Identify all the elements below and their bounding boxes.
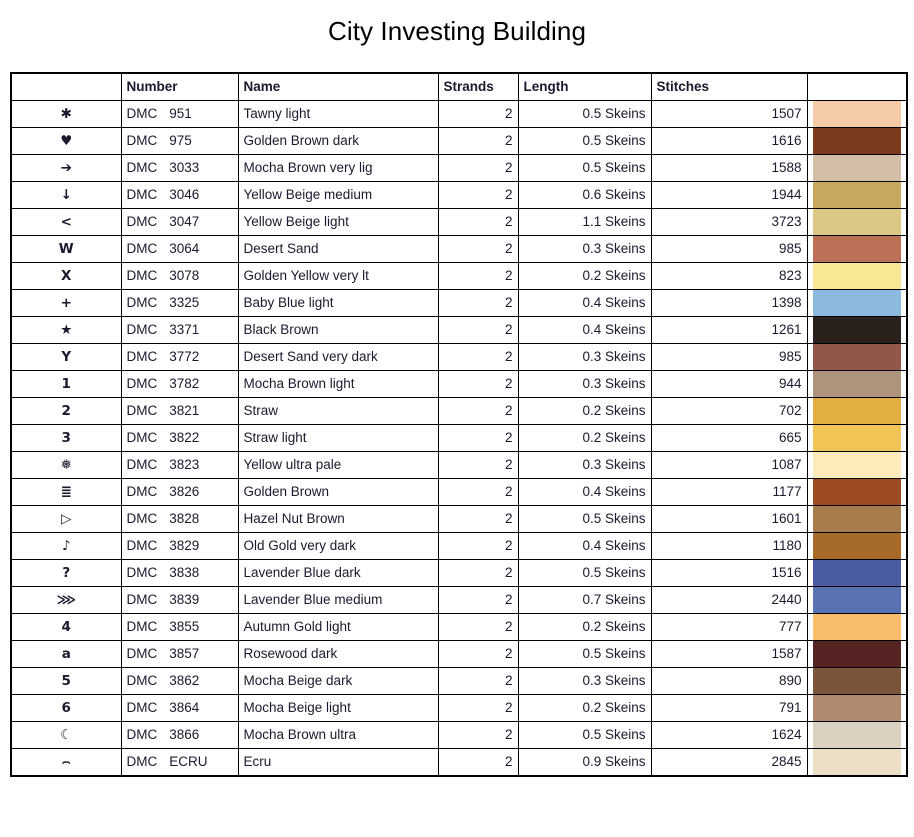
page-title: City Investing Building (0, 0, 914, 47)
table-row[interactable]: aDMC3857Rosewood dark20.5 Skeins1587 (11, 641, 907, 668)
color-swatch (813, 128, 902, 154)
cell-color-name: Golden Yellow very lt (238, 263, 438, 290)
cell-color-swatch (807, 344, 907, 371)
floss-code: 3828 (169, 506, 215, 532)
floss-code: 3829 (169, 533, 215, 559)
color-swatch (813, 533, 902, 559)
cell-length: 0.3 Skeins (518, 668, 651, 695)
floss-brand: DMC (127, 695, 158, 721)
cell-length: 0.2 Skeins (518, 398, 651, 425)
cell-stitches: 1587 (651, 641, 807, 668)
column-header-symbol (11, 73, 121, 101)
heart-symbol: ♥ (11, 128, 121, 155)
cell-length: 0.7 Skeins (518, 587, 651, 614)
cell-stitches: 1944 (651, 182, 807, 209)
table-row[interactable]: 5DMC3862Mocha Beige dark20.3 Skeins890 (11, 668, 907, 695)
cell-length: 0.5 Skeins (518, 641, 651, 668)
cell-color-name: Mocha Brown light (238, 371, 438, 398)
floss-code: 3838 (169, 560, 215, 586)
cell-color-name: Desert Sand very dark (238, 344, 438, 371)
table-row[interactable]: ♪DMC3829Old Gold very dark20.4 Skeins118… (11, 533, 907, 560)
cell-stitches: 944 (651, 371, 807, 398)
floss-brand: DMC (127, 155, 158, 181)
column-header-swatch (807, 73, 907, 101)
cell-color-swatch (807, 533, 907, 560)
color-swatch (813, 506, 902, 532)
color-swatch (813, 587, 902, 613)
cell-number: DMC3839 (121, 587, 238, 614)
table-row[interactable]: ?DMC3838Lavender Blue dark20.5 Skeins151… (11, 560, 907, 587)
cell-strands: 2 (438, 479, 518, 506)
floss-table-container: Number Name Strands Length Stitches ✱DMC… (10, 72, 906, 777)
table-row[interactable]: 2DMC3821Straw20.2 Skeins702 (11, 398, 907, 425)
cell-length: 0.3 Skeins (518, 236, 651, 263)
cell-strands: 2 (438, 533, 518, 560)
cell-color-name: Autumn Gold light (238, 614, 438, 641)
color-swatch (813, 236, 902, 262)
table-row[interactable]: ✱DMC951Tawny light20.5 Skeins1507 (11, 101, 907, 128)
table-row[interactable]: ≣DMC3826Golden Brown20.4 Skeins1177 (11, 479, 907, 506)
floss-code: 3822 (169, 425, 215, 451)
cell-stitches: 1588 (651, 155, 807, 182)
digit-five-symbol: 5 (11, 668, 121, 695)
cell-length: 0.5 Skeins (518, 722, 651, 749)
column-header-strands: Strands (438, 73, 518, 101)
cell-color-name: Yellow Beige medium (238, 182, 438, 209)
cell-length: 0.4 Skeins (518, 533, 651, 560)
cell-stitches: 1507 (651, 101, 807, 128)
cell-color-swatch (807, 695, 907, 722)
color-swatch (813, 263, 902, 289)
floss-table: Number Name Strands Length Stitches ✱DMC… (10, 72, 908, 777)
table-header: Number Name Strands Length Stitches (11, 73, 907, 101)
cell-stitches: 1601 (651, 506, 807, 533)
floss-code: 3855 (169, 614, 215, 640)
question-mark-symbol: ? (11, 560, 121, 587)
floss-code: 3772 (169, 344, 215, 370)
digit-four-symbol: 4 (11, 614, 121, 641)
cell-strands: 2 (438, 101, 518, 128)
cell-color-name: Mocha Beige light (238, 695, 438, 722)
table-row[interactable]: ☾DMC3866Mocha Brown ultra20.5 Skeins1624 (11, 722, 907, 749)
floss-brand: DMC (127, 182, 158, 208)
cell-length: 1.1 Skeins (518, 209, 651, 236)
cell-strands: 2 (438, 641, 518, 668)
cell-color-swatch (807, 722, 907, 749)
digit-two-symbol: 2 (11, 398, 121, 425)
table-row[interactable]: <DMC3047Yellow Beige light21.1 Skeins372… (11, 209, 907, 236)
cell-color-swatch (807, 479, 907, 506)
floss-brand: DMC (127, 317, 158, 343)
less-than-symbol: < (11, 209, 121, 236)
color-swatch (813, 155, 902, 181)
cell-number: DMC3855 (121, 614, 238, 641)
cell-stitches: 985 (651, 344, 807, 371)
cell-strands: 2 (438, 236, 518, 263)
cell-stitches: 2440 (651, 587, 807, 614)
table-row[interactable]: ❅DMC3823Yellow ultra pale20.3 Skeins1087 (11, 452, 907, 479)
table-body: ✱DMC951Tawny light20.5 Skeins1507♥DMC975… (11, 101, 907, 777)
floss-brand: DMC (127, 479, 158, 505)
cell-strands: 2 (438, 263, 518, 290)
cell-strands: 2 (438, 209, 518, 236)
color-swatch (813, 371, 902, 397)
color-swatch (813, 398, 902, 424)
cell-strands: 2 (438, 128, 518, 155)
table-row[interactable]: ♥DMC975Golden Brown dark20.5 Skeins1616 (11, 128, 907, 155)
cell-strands: 2 (438, 425, 518, 452)
cell-color-swatch (807, 749, 907, 777)
color-swatch (813, 695, 902, 721)
cell-color-swatch (807, 155, 907, 182)
cell-color-name: Old Gold very dark (238, 533, 438, 560)
cell-strands: 2 (438, 290, 518, 317)
floss-code: 3866 (169, 722, 215, 748)
cell-number: DMCECRU (121, 749, 238, 777)
table-row[interactable]: XDMC3078Golden Yellow very lt20.2 Skeins… (11, 263, 907, 290)
cell-length: 0.5 Skeins (518, 155, 651, 182)
cell-length: 0.3 Skeins (518, 452, 651, 479)
cell-color-swatch (807, 668, 907, 695)
cell-length: 0.5 Skeins (518, 101, 651, 128)
cell-color-name: Yellow Beige light (238, 209, 438, 236)
floss-code: 3839 (169, 587, 215, 613)
column-header-length: Length (518, 73, 651, 101)
table-row[interactable]: 6DMC3864Mocha Beige light20.2 Skeins791 (11, 695, 907, 722)
cell-color-name: Straw light (238, 425, 438, 452)
cell-strands: 2 (438, 614, 518, 641)
floss-code: 3864 (169, 695, 215, 721)
color-swatch (813, 290, 902, 316)
table-row[interactable]: ↓DMC3046Yellow Beige medium20.6 Skeins19… (11, 182, 907, 209)
cell-stitches: 1177 (651, 479, 807, 506)
cell-number: DMC3325 (121, 290, 238, 317)
cell-number: DMC3078 (121, 263, 238, 290)
cell-color-name: Yellow ultra pale (238, 452, 438, 479)
cell-length: 0.5 Skeins (518, 128, 651, 155)
floss-brand: DMC (127, 722, 158, 748)
cell-color-name: Hazel Nut Brown (238, 506, 438, 533)
floss-code: 3046 (169, 182, 215, 208)
color-swatch (813, 668, 902, 694)
cell-color-name: Golden Brown dark (238, 128, 438, 155)
column-header-name: Name (238, 73, 438, 101)
cell-color-swatch (807, 587, 907, 614)
cell-length: 0.4 Skeins (518, 317, 651, 344)
cell-number: DMC3821 (121, 398, 238, 425)
cell-number: DMC3864 (121, 695, 238, 722)
cell-number: DMC3828 (121, 506, 238, 533)
floss-brand: DMC (127, 128, 158, 154)
cell-length: 0.3 Skeins (518, 371, 651, 398)
cell-number: DMC3782 (121, 371, 238, 398)
cell-stitches: 1261 (651, 317, 807, 344)
letter-x-symbol: X (11, 263, 121, 290)
cell-strands: 2 (438, 371, 518, 398)
cell-number: DMC3829 (121, 533, 238, 560)
cell-length: 0.5 Skeins (518, 506, 651, 533)
digit-six-symbol: 6 (11, 695, 121, 722)
cell-strands: 2 (438, 155, 518, 182)
cell-color-name: Lavender Blue dark (238, 560, 438, 587)
floss-brand: DMC (127, 425, 158, 451)
music-note-symbol: ♪ (11, 533, 121, 560)
color-swatch (813, 614, 902, 640)
floss-code: ECRU (169, 749, 215, 775)
cell-strands: 2 (438, 668, 518, 695)
floss-brand: DMC (127, 452, 158, 478)
cell-stitches: 3723 (651, 209, 807, 236)
color-swatch (813, 722, 902, 748)
cell-color-name: Rosewood dark (238, 641, 438, 668)
floss-brand: DMC (127, 749, 158, 775)
cell-number: DMC3064 (121, 236, 238, 263)
color-swatch (813, 641, 902, 667)
snowflake-symbol: ❅ (11, 452, 121, 479)
white-triangle-symbol: ▷ (11, 506, 121, 533)
cell-strands: 2 (438, 182, 518, 209)
table-row[interactable]: 4DMC3855Autumn Gold light20.2 Skeins777 (11, 614, 907, 641)
floss-code: 3064 (169, 236, 215, 262)
cell-color-swatch (807, 290, 907, 317)
cell-number: DMC3046 (121, 182, 238, 209)
cell-strands: 2 (438, 749, 518, 777)
down-arrow-symbol: ↓ (11, 182, 121, 209)
cell-length: 0.4 Skeins (518, 479, 651, 506)
floss-brand: DMC (127, 236, 158, 262)
cell-stitches: 2845 (651, 749, 807, 777)
floss-code: 3033 (169, 155, 215, 181)
cell-number: DMC3838 (121, 560, 238, 587)
cell-color-swatch (807, 452, 907, 479)
cell-length: 0.5 Skeins (518, 560, 651, 587)
table-row[interactable]: 1DMC3782Mocha Brown light20.3 Skeins944 (11, 371, 907, 398)
color-swatch (813, 452, 902, 478)
cell-number: DMC3772 (121, 344, 238, 371)
color-swatch (813, 317, 902, 343)
column-header-stitches: Stitches (651, 73, 807, 101)
color-swatch (813, 344, 902, 370)
floss-brand: DMC (127, 506, 158, 532)
cell-stitches: 702 (651, 398, 807, 425)
cell-color-swatch (807, 614, 907, 641)
color-swatch (813, 425, 902, 451)
table-row[interactable]: ⋙DMC3839Lavender Blue medium20.7 Skeins2… (11, 587, 907, 614)
column-header-number: Number (121, 73, 238, 101)
triple-bar-symbol: ≣ (11, 479, 121, 506)
floss-brand: DMC (127, 398, 158, 424)
cell-stitches: 985 (651, 236, 807, 263)
floss-code: 3821 (169, 398, 215, 424)
arc-symbol: ⌢ (11, 749, 121, 777)
floss-brand: DMC (127, 641, 158, 667)
cell-length: 0.2 Skeins (518, 425, 651, 452)
floss-code: 3782 (169, 371, 215, 397)
floss-brand: DMC (127, 209, 158, 235)
cell-color-name: Mocha Beige dark (238, 668, 438, 695)
cell-color-swatch (807, 182, 907, 209)
cell-number: DMC3047 (121, 209, 238, 236)
cell-number: DMC3033 (121, 155, 238, 182)
cell-number: DMC3857 (121, 641, 238, 668)
cell-strands: 2 (438, 587, 518, 614)
right-arrow-symbol: ➔ (11, 155, 121, 182)
table-row[interactable]: +DMC3325Baby Blue light20.4 Skeins1398 (11, 290, 907, 317)
color-swatch (813, 101, 902, 127)
double-chevron-symbol: ⋙ (11, 587, 121, 614)
crescent-moon-symbol: ☾ (11, 722, 121, 749)
cell-stitches: 1180 (651, 533, 807, 560)
cell-stitches: 665 (651, 425, 807, 452)
floss-code: 3371 (169, 317, 215, 343)
cell-stitches: 1616 (651, 128, 807, 155)
table-row[interactable]: WDMC3064Desert Sand20.3 Skeins985 (11, 236, 907, 263)
cell-stitches: 1087 (651, 452, 807, 479)
color-swatch (813, 749, 902, 775)
cell-length: 0.2 Skeins (518, 614, 651, 641)
cell-color-name: Golden Brown (238, 479, 438, 506)
color-swatch (813, 182, 902, 208)
cell-strands: 2 (438, 452, 518, 479)
floss-code: 3857 (169, 641, 215, 667)
cell-length: 0.6 Skeins (518, 182, 651, 209)
cell-stitches: 791 (651, 695, 807, 722)
star-symbol: ★ (11, 317, 121, 344)
letter-w-symbol: W (11, 236, 121, 263)
cell-length: 0.2 Skeins (518, 695, 651, 722)
color-swatch (813, 560, 902, 586)
cell-color-name: Mocha Brown very lig (238, 155, 438, 182)
cell-strands: 2 (438, 317, 518, 344)
cell-strands: 2 (438, 695, 518, 722)
cell-number: DMC975 (121, 128, 238, 155)
cell-strands: 2 (438, 560, 518, 587)
plus-symbol: + (11, 290, 121, 317)
table-row[interactable]: YDMC3772Desert Sand very dark20.3 Skeins… (11, 344, 907, 371)
cell-color-swatch (807, 101, 907, 128)
floss-code: 3325 (169, 290, 215, 316)
cell-color-swatch (807, 641, 907, 668)
cell-color-swatch (807, 560, 907, 587)
floss-code: 3862 (169, 668, 215, 694)
floss-brand: DMC (127, 263, 158, 289)
cell-stitches: 777 (651, 614, 807, 641)
digit-one-symbol: 1 (11, 371, 121, 398)
cell-color-name: Desert Sand (238, 236, 438, 263)
heavy-asterisk-symbol: ✱ (11, 101, 121, 128)
cell-strands: 2 (438, 506, 518, 533)
letter-a-symbol: a (11, 641, 121, 668)
floss-brand: DMC (127, 533, 158, 559)
table-row[interactable]: 3DMC3822Straw light20.2 Skeins665 (11, 425, 907, 452)
table-row[interactable]: ★DMC3371Black Brown20.4 Skeins1261 (11, 317, 907, 344)
cell-number: DMC3826 (121, 479, 238, 506)
cell-color-swatch (807, 317, 907, 344)
cell-stitches: 890 (651, 668, 807, 695)
cell-color-swatch (807, 506, 907, 533)
digit-three-symbol: 3 (11, 425, 121, 452)
cell-length: 0.4 Skeins (518, 290, 651, 317)
cell-color-name: Black Brown (238, 317, 438, 344)
cell-color-swatch (807, 128, 907, 155)
floss-code: 3078 (169, 263, 215, 289)
floss-brand: DMC (127, 290, 158, 316)
cell-stitches: 1398 (651, 290, 807, 317)
floss-brand: DMC (127, 614, 158, 640)
cell-color-name: Baby Blue light (238, 290, 438, 317)
cell-length: 0.3 Skeins (518, 344, 651, 371)
cell-stitches: 823 (651, 263, 807, 290)
cell-strands: 2 (438, 398, 518, 425)
color-swatch (813, 479, 902, 505)
cell-length: 0.2 Skeins (518, 263, 651, 290)
cell-stitches: 1624 (651, 722, 807, 749)
cell-color-name: Straw (238, 398, 438, 425)
cell-number: DMC3823 (121, 452, 238, 479)
cell-color-name: Tawny light (238, 101, 438, 128)
header-row: Number Name Strands Length Stitches (11, 73, 907, 101)
cell-color-swatch (807, 209, 907, 236)
cell-color-swatch (807, 236, 907, 263)
floss-brand: DMC (127, 344, 158, 370)
cell-color-name: Lavender Blue medium (238, 587, 438, 614)
cell-color-swatch (807, 425, 907, 452)
cell-strands: 2 (438, 722, 518, 749)
cell-length: 0.9 Skeins (518, 749, 651, 777)
floss-brand: DMC (127, 587, 158, 613)
table-row[interactable]: ➔DMC3033Mocha Brown very lig20.5 Skeins1… (11, 155, 907, 182)
cell-color-name: Ecru (238, 749, 438, 777)
cell-number: DMC3862 (121, 668, 238, 695)
floss-code: 3826 (169, 479, 215, 505)
cell-stitches: 1516 (651, 560, 807, 587)
cell-color-swatch (807, 398, 907, 425)
floss-code: 975 (169, 128, 215, 154)
cell-number: DMC3371 (121, 317, 238, 344)
cell-color-swatch (807, 263, 907, 290)
letter-y-symbol: Y (11, 344, 121, 371)
floss-brand: DMC (127, 371, 158, 397)
floss-brand: DMC (127, 668, 158, 694)
floss-code: 3047 (169, 209, 215, 235)
floss-brand: DMC (127, 101, 158, 127)
color-swatch (813, 209, 902, 235)
cell-number: DMC3822 (121, 425, 238, 452)
floss-code: 3823 (169, 452, 215, 478)
cell-color-name: Mocha Brown ultra (238, 722, 438, 749)
cell-number: DMC3866 (121, 722, 238, 749)
cell-number: DMC951 (121, 101, 238, 128)
table-row[interactable]: ▷DMC3828Hazel Nut Brown20.5 Skeins1601 (11, 506, 907, 533)
table-row[interactable]: ⌢DMCECRUEcru20.9 Skeins2845 (11, 749, 907, 777)
cell-color-swatch (807, 371, 907, 398)
cell-strands: 2 (438, 344, 518, 371)
floss-code: 951 (169, 101, 215, 127)
floss-brand: DMC (127, 560, 158, 586)
